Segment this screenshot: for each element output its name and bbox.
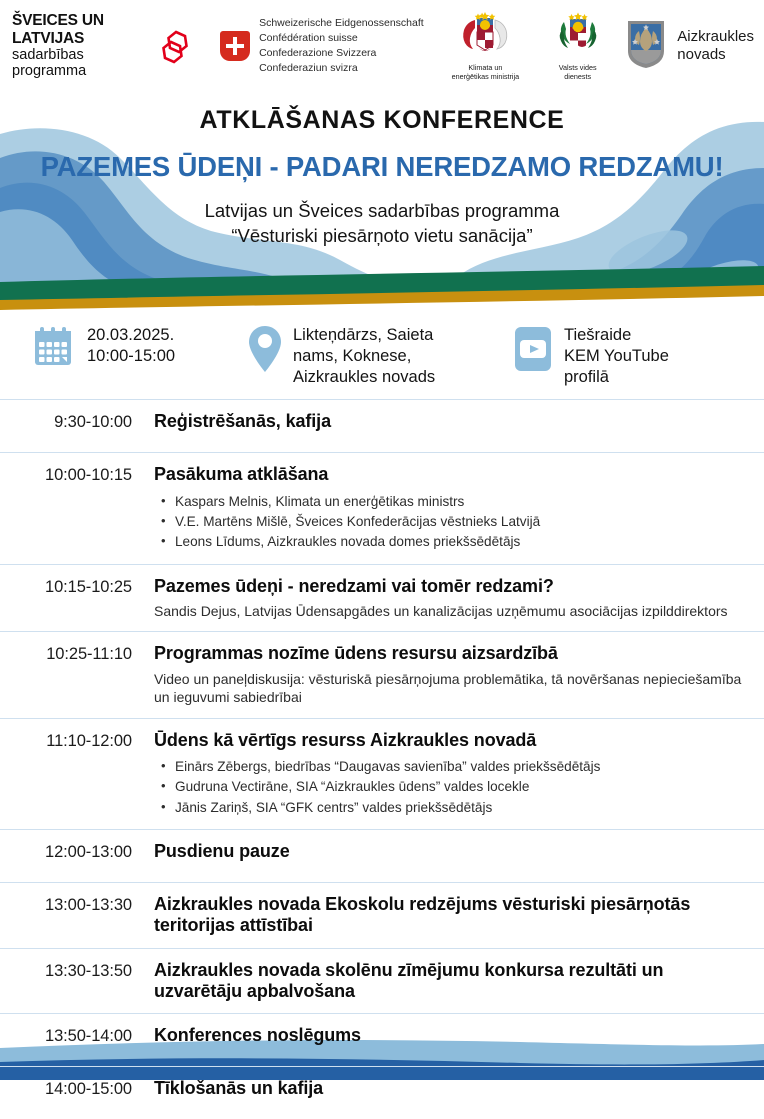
logo-aizkraukle-municipality: Aizkraukles novads — [624, 17, 754, 76]
page-subtitle-line2: “Vēsturiski piesārņoto vietu sanācija” — [0, 224, 764, 249]
logo-ministry-climate-energy: Klimata un enerģētikas ministrija — [450, 12, 521, 81]
map-pin-icon — [248, 324, 282, 379]
aizkraukle-shield-icon — [624, 17, 668, 76]
schedule-title: Programmas nozīme ūdens resursu aizsardz… — [154, 643, 748, 664]
schedule-speaker: Jānis Zariņš, SIA “GFK centrs” valdes pr… — [175, 798, 748, 818]
logo-swiss-latvia-programme: ŠVEICES UN LATVIJAS sadarbības programma — [12, 12, 194, 79]
swiss-flag-icon — [220, 31, 250, 61]
schedule-speaker: V.E. Martēns Mišlē, Šveices Konfederācij… — [175, 512, 748, 532]
schedule-description: Video un paneļdiskusija: vēsturiskā pies… — [154, 670, 748, 707]
event-location-line1: Likteņdārzs, Saieta — [293, 325, 435, 346]
page-subtitle-line1: Latvijas un Šveices sadarbības programma — [0, 199, 764, 224]
schedule-time: 14:00-15:00 — [0, 1078, 154, 1099]
schedule-row: 14:00-15:00 Tīklošanās un kafija — [0, 1067, 764, 1119]
schedule-speaker-list: Kaspars Melnis, Klimata un enerģētikas m… — [154, 492, 748, 553]
schedule-row: 10:25-11:10 Programmas nozīme ūdens resu… — [0, 632, 764, 718]
schedule-title: Pazemes ūdeņi - neredzami vai tomēr redz… — [154, 576, 748, 597]
event-info-bar: 20.03.2025. 10:00-15:00 Likteņdārzs, Sai… — [0, 310, 764, 400]
schedule-row: 12:00-13:00 Pusdienu pauze — [0, 830, 764, 883]
aizkraukle-logo-line1: Aizkraukles — [677, 28, 754, 46]
schedule-speaker: Kaspars Melnis, Klimata un enerģētikas m… — [175, 492, 748, 512]
schedule-row: 9:30-10:00 Reģistrēšanās, kafija — [0, 400, 764, 453]
stream-line2: KEM YouTube — [564, 346, 669, 367]
schedule-title: Aizkraukles novada Ekoskolu redzējums vē… — [154, 894, 748, 936]
schedule-time: 11:10-12:00 — [0, 730, 154, 751]
schedule-row: 10:00-10:15 Pasākuma atklāšana Kaspars M… — [0, 453, 764, 564]
environment-service-logo-caption: Valsts vides dienests — [547, 63, 608, 81]
event-date-info: 20.03.2025. 10:00-15:00 — [30, 324, 248, 375]
schedule-row: 10:15-10:25 Pazemes ūdeņi - neredzami va… — [0, 565, 764, 633]
event-location-info: Likteņdārzs, Saieta nams, Koknese, Aizkr… — [248, 324, 513, 387]
poster-header: ATKLĀŠANAS KONFERENCE PAZEMES ŪDEŅI - PA… — [0, 92, 764, 310]
schedule-time: 12:00-13:00 — [0, 841, 154, 862]
swiss-latvia-logo-line2: sadarbības programma — [12, 47, 148, 79]
confederation-line-3: Confederazione Svizzera — [259, 46, 424, 61]
logo-swiss-confederation: Schweizerische Eidgenossenschaft Confédé… — [220, 16, 424, 76]
event-location-line2: nams, Koknese, — [293, 346, 435, 367]
swiss-latvia-logo-line1: ŠVEICES UN LATVIJAS — [12, 12, 148, 47]
schedule-speaker: Leons Līdums, Aizkraukles novada domes p… — [175, 532, 748, 552]
calendar-icon — [30, 324, 76, 375]
schedule-row: 13:50-14:00 Konferences noslēgums — [0, 1014, 764, 1067]
schedule-title: Konferences noslēgums — [154, 1025, 748, 1046]
schedule-speaker: Einārs Zēbergs, biedrības “Daugavas savi… — [175, 757, 748, 777]
schedule-speaker: Gudruna Vectirāne, SIA “Aizkraukles ūden… — [175, 777, 748, 797]
schedule-time: 13:50-14:00 — [0, 1025, 154, 1046]
stream-line1: Tiešraide — [564, 325, 669, 346]
confederation-line-2: Confédération suisse — [259, 31, 424, 46]
schedule-title: Tīklošanās un kafija — [154, 1078, 748, 1099]
schedule-title: Pasākuma atklāšana — [154, 464, 748, 485]
schedule-time: 10:15-10:25 — [0, 576, 154, 597]
schedule-time: 10:00-10:15 — [0, 464, 154, 485]
schedule-title: Aizkraukles novada skolēnu zīmējumu konk… — [154, 960, 748, 1002]
schedule-title: Ūdens kā vērtīgs resurss Aizkraukles nov… — [154, 730, 748, 751]
stream-line3: profilā — [564, 367, 669, 388]
latvia-coat-of-arms-icon — [457, 12, 513, 61]
event-time: 10:00-15:00 — [87, 346, 175, 367]
event-stream-info[interactable]: Tiešraide KEM YouTube profilā — [513, 324, 733, 387]
logo-state-environmental-service: Valsts vides dienests — [547, 12, 608, 81]
conference-schedule: 9:30-10:00 Reģistrēšanās, kafija 10:00-1… — [0, 400, 764, 1119]
page-title: PAZEMES ŪDEŅI - PADARI NEREDZAMO REDZAMU… — [0, 151, 764, 183]
sponsor-logo-bar: ŠVEICES UN LATVIJAS sadarbības programma… — [0, 0, 764, 92]
schedule-time: 13:30-13:50 — [0, 960, 154, 981]
schedule-time: 9:30-10:00 — [0, 411, 154, 432]
schedule-row: 13:30-13:50 Aizkraukles novada skolēnu z… — [0, 949, 764, 1014]
confederation-line-1: Schweizerische Eidgenossenschaft — [259, 16, 424, 31]
schedule-title: Reģistrēšanās, kafija — [154, 411, 748, 432]
schedule-time: 10:25-11:10 — [0, 643, 154, 664]
ministry-logo-caption: Klimata un enerģētikas ministrija — [450, 63, 521, 81]
schedule-speaker-list: Einārs Zēbergs, biedrības “Daugavas savi… — [154, 757, 748, 818]
swiss-latvia-rings-icon — [156, 27, 194, 65]
schedule-row: 11:10-12:00 Ūdens kā vērtīgs resurss Aiz… — [0, 719, 764, 830]
confederation-line-4: Confederaziun svizra — [259, 61, 424, 76]
schedule-time: 13:00-13:30 — [0, 894, 154, 915]
page-kicker: ATKLĀŠANAS KONFERENCE — [0, 106, 764, 135]
aizkraukle-logo-line2: novads — [677, 46, 754, 64]
schedule-title: Pusdienu pauze — [154, 841, 748, 862]
schedule-row: 13:00-13:30 Aizkraukles novada Ekoskolu … — [0, 883, 764, 948]
youtube-play-icon[interactable] — [513, 324, 553, 379]
schedule-description: Sandis Dejus, Latvijas Ūdensapgādes un k… — [154, 602, 748, 620]
event-date: 20.03.2025. — [87, 325, 175, 346]
event-location-line3: Aizkraukles novads — [293, 367, 435, 388]
latvia-small-coat-of-arms-icon — [554, 12, 602, 61]
